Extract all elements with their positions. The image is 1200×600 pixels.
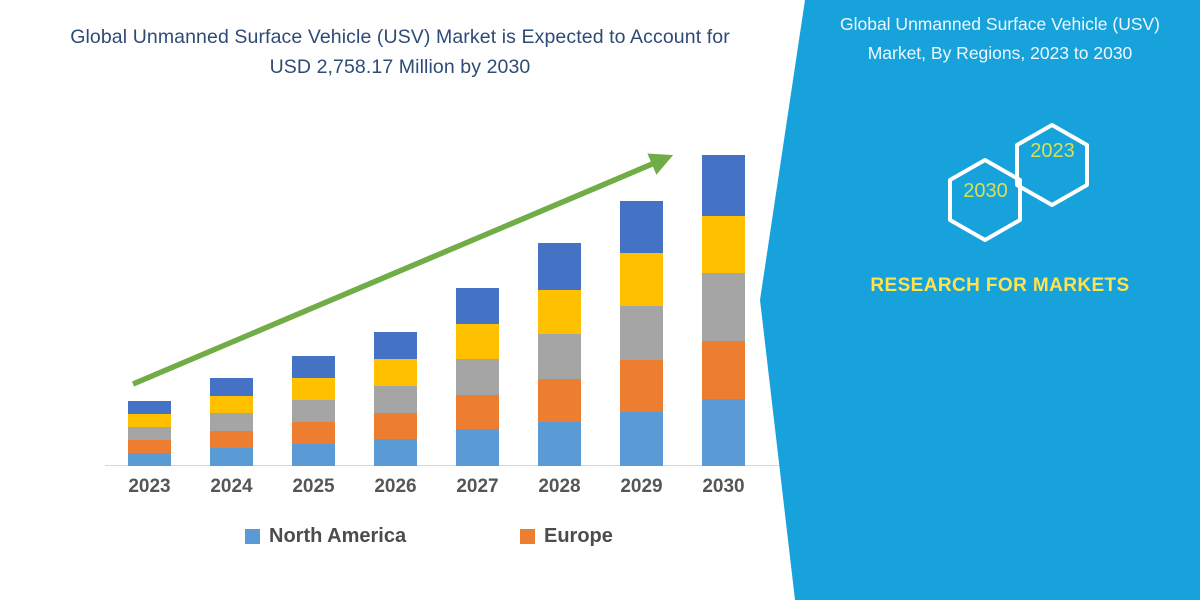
bar-2029[interactable] (620, 201, 663, 466)
bar-segment-middle-east-africa-2028[interactable] (538, 243, 581, 290)
stacked-bar-plot (105, 140, 785, 466)
legend-label: Europe (544, 525, 613, 548)
bar-segment-middle-east-africa-2023[interactable] (128, 401, 171, 414)
bar-segment-middle-east-africa-2024[interactable] (210, 378, 253, 396)
bar-segment-europe-2026[interactable] (374, 413, 417, 439)
bar-segment-south-america-2028[interactable] (538, 290, 581, 334)
brand-panel: Global Unmanned Surface Vehicle (USV) Ma… (755, 0, 1200, 600)
brand-panel-background (755, 0, 1200, 600)
bar-segment-south-america-2026[interactable] (374, 359, 417, 386)
legend-swatch-icon (520, 529, 535, 544)
x-axis-label-2023: 2023 (109, 476, 191, 498)
bar-2027[interactable] (456, 288, 499, 466)
bar-segment-south-america-2024[interactable] (210, 396, 253, 413)
bar-segment-south-america-2027[interactable] (456, 324, 499, 359)
x-axis-labels: 20232024202520262027202820292030 (105, 476, 785, 506)
bar-segment-asia-pacific-2024[interactable] (210, 413, 253, 431)
bar-segment-north-america-2026[interactable] (374, 439, 417, 466)
bar-segment-europe-2030[interactable] (702, 341, 745, 399)
bar-segment-europe-2023[interactable] (128, 440, 171, 453)
bar-2030[interactable] (702, 155, 745, 466)
bar-segment-middle-east-africa-2029[interactable] (620, 201, 663, 253)
bar-segment-europe-2028[interactable] (538, 379, 581, 422)
bar-2026[interactable] (374, 332, 417, 466)
bar-segment-north-america-2030[interactable] (702, 399, 745, 466)
legend-label: North America (269, 525, 406, 548)
legend-item-north-america[interactable]: North America (245, 525, 406, 548)
bar-segment-asia-pacific-2025[interactable] (292, 400, 335, 422)
chart-legend: North AmericaEurope (105, 525, 785, 565)
x-axis-label-2028: 2028 (519, 476, 601, 498)
bar-segment-europe-2029[interactable] (620, 360, 663, 412)
bar-segment-north-america-2029[interactable] (620, 412, 663, 466)
bar-segment-middle-east-africa-2025[interactable] (292, 356, 335, 378)
bar-2024[interactable] (210, 378, 253, 466)
bar-segment-north-america-2024[interactable] (210, 448, 253, 466)
bar-segment-south-america-2029[interactable] (620, 253, 663, 306)
bar-segment-north-america-2027[interactable] (456, 429, 499, 466)
bar-segment-asia-pacific-2023[interactable] (128, 427, 171, 440)
bar-segment-europe-2025[interactable] (292, 422, 335, 444)
x-axis-label-2026: 2026 (355, 476, 437, 498)
x-axis-label-2025: 2025 (273, 476, 355, 498)
bar-segment-asia-pacific-2028[interactable] (538, 334, 581, 379)
bar-segment-asia-pacific-2029[interactable] (620, 306, 663, 360)
bar-segment-north-america-2025[interactable] (292, 444, 335, 466)
legend-item-europe[interactable]: Europe (520, 525, 613, 548)
x-axis-label-2024: 2024 (191, 476, 273, 498)
bar-segment-north-america-2023[interactable] (128, 453, 171, 466)
x-axis-label-2030: 2030 (683, 476, 765, 498)
bar-segment-north-america-2028[interactable] (538, 422, 581, 466)
bar-segment-south-america-2025[interactable] (292, 378, 335, 400)
bar-2028[interactable] (538, 243, 581, 466)
bar-segment-middle-east-africa-2027[interactable] (456, 288, 499, 324)
chart-panel: Global Unmanned Surface Vehicle (USV) Ma… (0, 0, 790, 600)
hexagon-badge-2023: 2023 (1010, 140, 1095, 163)
bar-segment-asia-pacific-2027[interactable] (456, 359, 499, 395)
hexagon-badge-2030: 2030 (943, 180, 1028, 203)
usv-market-infographic: Global Unmanned Surface Vehicle (USV) Ma… (0, 0, 1200, 600)
bar-segment-europe-2024[interactable] (210, 431, 253, 448)
chart-title: Global Unmanned Surface Vehicle (USV) Ma… (60, 22, 740, 82)
bar-segment-middle-east-africa-2026[interactable] (374, 332, 417, 359)
bar-2025[interactable] (292, 356, 335, 466)
legend-swatch-icon (245, 529, 260, 544)
bar-segment-south-america-2030[interactable] (702, 216, 745, 273)
bar-segment-europe-2027[interactable] (456, 395, 499, 429)
x-axis-label-2027: 2027 (437, 476, 519, 498)
bar-segment-middle-east-africa-2030[interactable] (702, 155, 745, 216)
x-axis-label-2029: 2029 (601, 476, 683, 498)
brand-name: RESEARCH FOR MARKETS (820, 272, 1180, 300)
brand-panel-title: Global Unmanned Surface Vehicle (USV) Ma… (810, 10, 1190, 68)
bar-segment-asia-pacific-2026[interactable] (374, 386, 417, 413)
bar-segment-asia-pacific-2030[interactable] (702, 273, 745, 341)
bar-2023[interactable] (128, 401, 171, 466)
bar-segment-south-america-2023[interactable] (128, 414, 171, 427)
